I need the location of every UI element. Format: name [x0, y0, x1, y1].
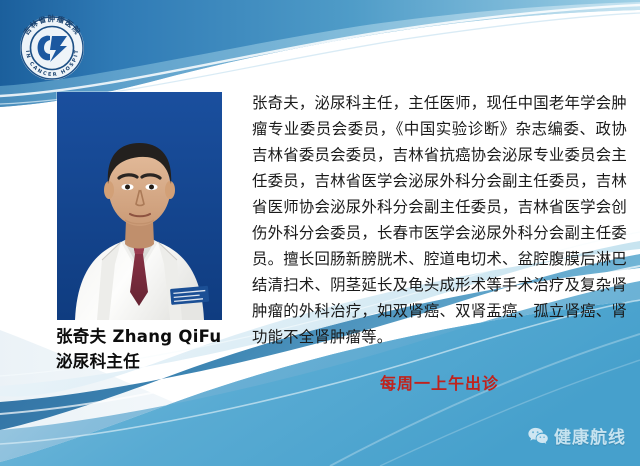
doctor-caption: 张奇夫 Zhang QiFu 泌尿科主任: [56, 325, 266, 374]
portrait-badge: [170, 286, 209, 305]
biography-paragraph: 张奇夫，泌尿科主任，主任医师，现任中国老年学会肿瘤专业委员会委员，《中国实验诊断…: [252, 90, 627, 350]
portrait-image: [57, 92, 222, 320]
doctor-name: 张奇夫 Zhang QiFu: [56, 325, 266, 348]
wechat-watermark: 健康航线: [527, 423, 626, 448]
doctor-title: 泌尿科主任: [56, 350, 266, 373]
wechat-icon: [527, 425, 549, 447]
slide-canvas: 吉林省肿瘤医院 JILIN CANCER HOSPITAL: [0, 0, 640, 466]
hospital-logo: 吉林省肿瘤医院 JILIN CANCER HOSPITAL: [12, 6, 92, 86]
clinic-notice: 每周一上午出诊: [252, 370, 627, 394]
watermark-label: 健康航线: [554, 423, 626, 448]
biography-text: 张奇夫，泌尿科主任，主任医师，现任中国老年学会肿瘤专业委员会委员，《中国实验诊断…: [252, 90, 627, 350]
hospital-seal-icon: 吉林省肿瘤医院 JILIN CANCER HOSPITAL: [12, 6, 92, 86]
doctor-portrait: [57, 92, 222, 320]
